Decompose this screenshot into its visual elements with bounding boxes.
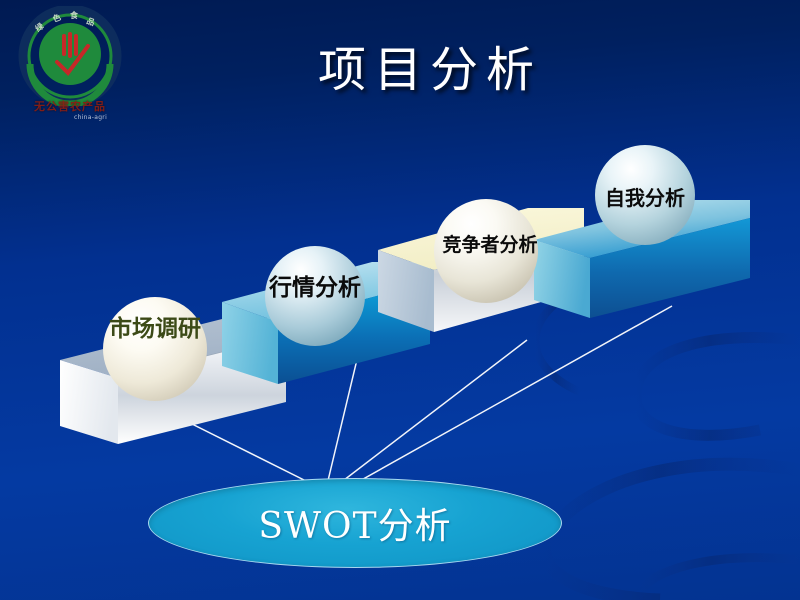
svg-text:品: 品 <box>85 16 96 27</box>
sphere-market-research-label: 市场调研 <box>103 309 207 343</box>
swot-result-label: SWOT分析 <box>149 479 561 567</box>
page-title: 项目分析 <box>0 30 800 100</box>
sphere-market-conditions-label: 行情分析 <box>263 268 367 302</box>
logo-brand-text: 无公害农产品 <box>8 98 132 114</box>
logo-site-text: china-agri <box>74 114 107 121</box>
slide-canvas: 绿 色 食 品 无公害农产品 china-agri 项目分析 <box>0 0 800 600</box>
sphere-competitor-label: 竞争者分析 <box>426 230 554 257</box>
sphere-self-analysis-label: 自我分析 <box>593 182 697 211</box>
swot-result-ellipse[interactable]: SWOT分析 <box>148 478 562 568</box>
svg-text:食: 食 <box>70 10 79 20</box>
